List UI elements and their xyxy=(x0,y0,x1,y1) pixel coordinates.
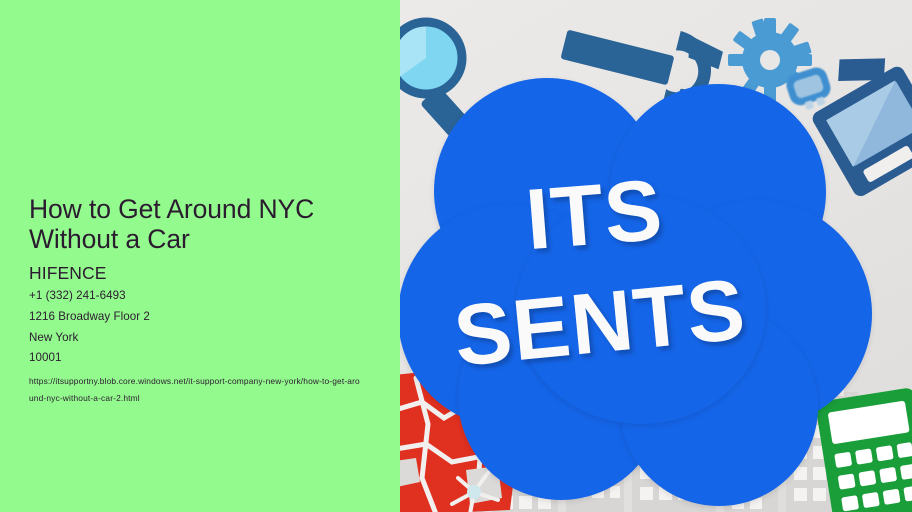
cloud-lobe xyxy=(516,194,766,424)
city-name: New York xyxy=(29,332,389,344)
postal-code: 10001 xyxy=(29,352,389,364)
cloud-shape: ITS SENTS xyxy=(400,78,878,512)
text-panel: How to Get Around NYC Without a Car HIFE… xyxy=(0,0,400,512)
text-block: How to Get Around NYC Without a Car HIFE… xyxy=(29,194,389,408)
street-address: 1216 Broadway Floor 2 xyxy=(29,311,389,323)
organization-name: HIFENCE xyxy=(29,263,389,284)
illustration-panel: ITS SENTS xyxy=(400,0,912,512)
phone-number: +1 (332) 241-6493 xyxy=(29,290,389,302)
source-url: https://itsupportny.blob.core.windows.ne… xyxy=(29,373,364,408)
page-title: How to Get Around NYC Without a Car xyxy=(29,194,387,254)
slide-canvas: How to Get Around NYC Without a Car HIFE… xyxy=(0,0,912,512)
